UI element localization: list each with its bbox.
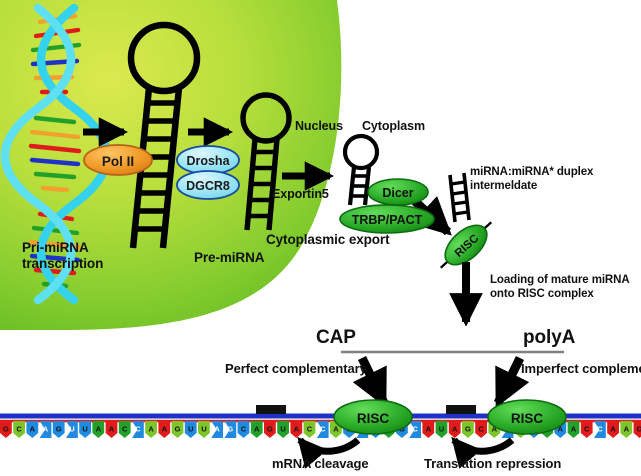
mrna-base: G (264, 421, 276, 438)
mrna-base: A (106, 421, 118, 438)
mrna-base: A (290, 421, 302, 438)
mirna-duplex-icon (450, 173, 469, 222)
arrow-imperfect-complementary (498, 358, 520, 403)
mrna-base: A (145, 421, 157, 438)
label-translation-repression: Translation repression (424, 457, 561, 472)
mrna-base: U (185, 421, 197, 438)
svg-text:A: A (624, 425, 630, 434)
svg-text:A: A (294, 425, 300, 434)
svg-text:Drosha: Drosha (186, 154, 230, 168)
enzyme-drosha: Drosha (177, 146, 239, 174)
svg-text:G: G (3, 425, 9, 434)
label-risc-loading: Loading of mature miRNA (490, 274, 630, 287)
mrna-base: A (607, 421, 619, 438)
svg-text:C: C (135, 425, 141, 434)
mrna-base: C (13, 421, 25, 438)
svg-text:A: A (30, 425, 36, 434)
mrna-base: C (238, 421, 250, 438)
mrna-base: U (436, 421, 448, 438)
svg-text:U: U (201, 425, 206, 434)
svg-text:C: C (584, 425, 590, 434)
mrna-base: U (79, 421, 91, 438)
svg-text:C: C (597, 425, 603, 434)
svg-text:U: U (82, 425, 87, 434)
enzyme-pol2: Pol II (84, 145, 152, 175)
enzyme-dgcr8: DGCR8 (177, 171, 239, 199)
label-cytoplasmic-export: Cytoplasmic export (266, 232, 389, 247)
svg-text:A: A (571, 425, 577, 434)
svg-text:C: C (320, 425, 326, 434)
svg-text:G: G (465, 425, 471, 434)
svg-text:C: C (241, 425, 247, 434)
mrna-base: C (304, 421, 316, 438)
mrna-base: C (317, 421, 329, 438)
mrna-base: G (634, 421, 641, 438)
svg-text:A: A (254, 425, 260, 434)
svg-text:A: A (96, 425, 102, 434)
svg-text:C: C (16, 425, 22, 434)
mrna-base: U (66, 421, 78, 438)
mrna-base: U (277, 421, 289, 438)
label-nucleus: Nucleus (295, 119, 343, 133)
label-duplex-intermediate-2: intermeldate (470, 180, 537, 193)
label-pri-mirna-transcription-2: transcription (22, 256, 103, 271)
enzyme-dicer: Dicer (368, 179, 428, 205)
mrna-base: C (119, 421, 131, 438)
mrna-base: C (594, 421, 606, 438)
risc-complex-repression: RISC (488, 400, 566, 434)
svg-text:U: U (280, 425, 285, 434)
svg-text:TRBP/PACT: TRBP/PACT (352, 213, 423, 227)
mrna-base: G (53, 421, 65, 438)
arrow-mrna-cleavage-curve (300, 440, 358, 451)
mrna-base: G (172, 421, 184, 438)
mrna-base: A (211, 421, 223, 438)
label-mrna-cleavage: mRNA cleavage (272, 457, 369, 472)
label-exportin5: Exportin5 (272, 187, 329, 201)
svg-text:A: A (214, 425, 220, 434)
label-cytoplasm: Cytoplasm (362, 119, 425, 133)
mrna-base: G (0, 421, 12, 438)
label-perfect-complementary: Perfect complementary (225, 362, 367, 377)
mrna-base: U (198, 421, 210, 438)
mrna-base: A (620, 421, 632, 438)
svg-text:A: A (148, 425, 154, 434)
mrna-base: C (409, 421, 421, 438)
svg-text:A: A (162, 425, 168, 434)
mrna-base: A (568, 421, 580, 438)
svg-text:G: G (267, 425, 273, 434)
risc-complex-cleavage: RISC (334, 400, 412, 434)
mrna-base: A (92, 421, 104, 438)
svg-text:DGCR8: DGCR8 (186, 179, 230, 193)
mrna-base: C (132, 421, 144, 438)
figure-canvas: RISC GCAAGUUAACCAAGUUAGCAGUACCAGUUAGCAUA… (0, 0, 641, 476)
label-polya: polyA (523, 327, 575, 348)
mrna-base: A (158, 421, 170, 438)
svg-text:C: C (307, 425, 313, 434)
svg-text:RISC: RISC (511, 411, 544, 426)
label-duplex-intermediate: miRNA:miRNA* duplex (470, 166, 593, 179)
svg-text:A: A (452, 425, 458, 434)
svg-text:G: G (56, 425, 62, 434)
svg-text:Pol II: Pol II (102, 154, 134, 169)
mrna-base: G (462, 421, 474, 438)
arrow-translation-repression-curve (454, 440, 512, 451)
mrna-target-block-1 (256, 405, 286, 414)
label-cap: CAP (316, 327, 356, 348)
mrna-base: A (422, 421, 434, 438)
mrna-base: G (224, 421, 236, 438)
svg-text:A: A (610, 425, 616, 434)
mrna-base: A (251, 421, 263, 438)
svg-text:C: C (412, 425, 418, 434)
svg-text:A: A (43, 425, 49, 434)
svg-text:A: A (426, 425, 432, 434)
label-pri-mirna-transcription: Pri-miRNA (22, 240, 89, 255)
mrna-base: A (40, 421, 52, 438)
svg-text:U: U (188, 425, 193, 434)
svg-text:RISC: RISC (357, 411, 390, 426)
label-pre-mirna: Pre-miRNA (194, 250, 264, 265)
svg-text:G: G (637, 425, 641, 434)
label-imperfect-complementary: Imperfect complementary (521, 362, 641, 377)
svg-text:Dicer: Dicer (382, 186, 413, 200)
mrna-base: C (581, 421, 593, 438)
svg-text:G: G (227, 425, 233, 434)
mrna-base: A (26, 421, 38, 438)
svg-text:G: G (175, 425, 181, 434)
mrna-base: A (449, 421, 461, 438)
svg-text:A: A (109, 425, 115, 434)
label-risc-loading-2: onto RISC complex (490, 288, 594, 301)
mrna-base: C (475, 421, 487, 438)
enzyme-trbp-pact: TRBP/PACT (340, 205, 434, 233)
svg-text:U: U (69, 425, 74, 434)
svg-text:C: C (122, 425, 128, 434)
svg-text:U: U (439, 425, 444, 434)
mrna-target-block-2 (446, 405, 476, 414)
svg-text:C: C (478, 425, 484, 434)
